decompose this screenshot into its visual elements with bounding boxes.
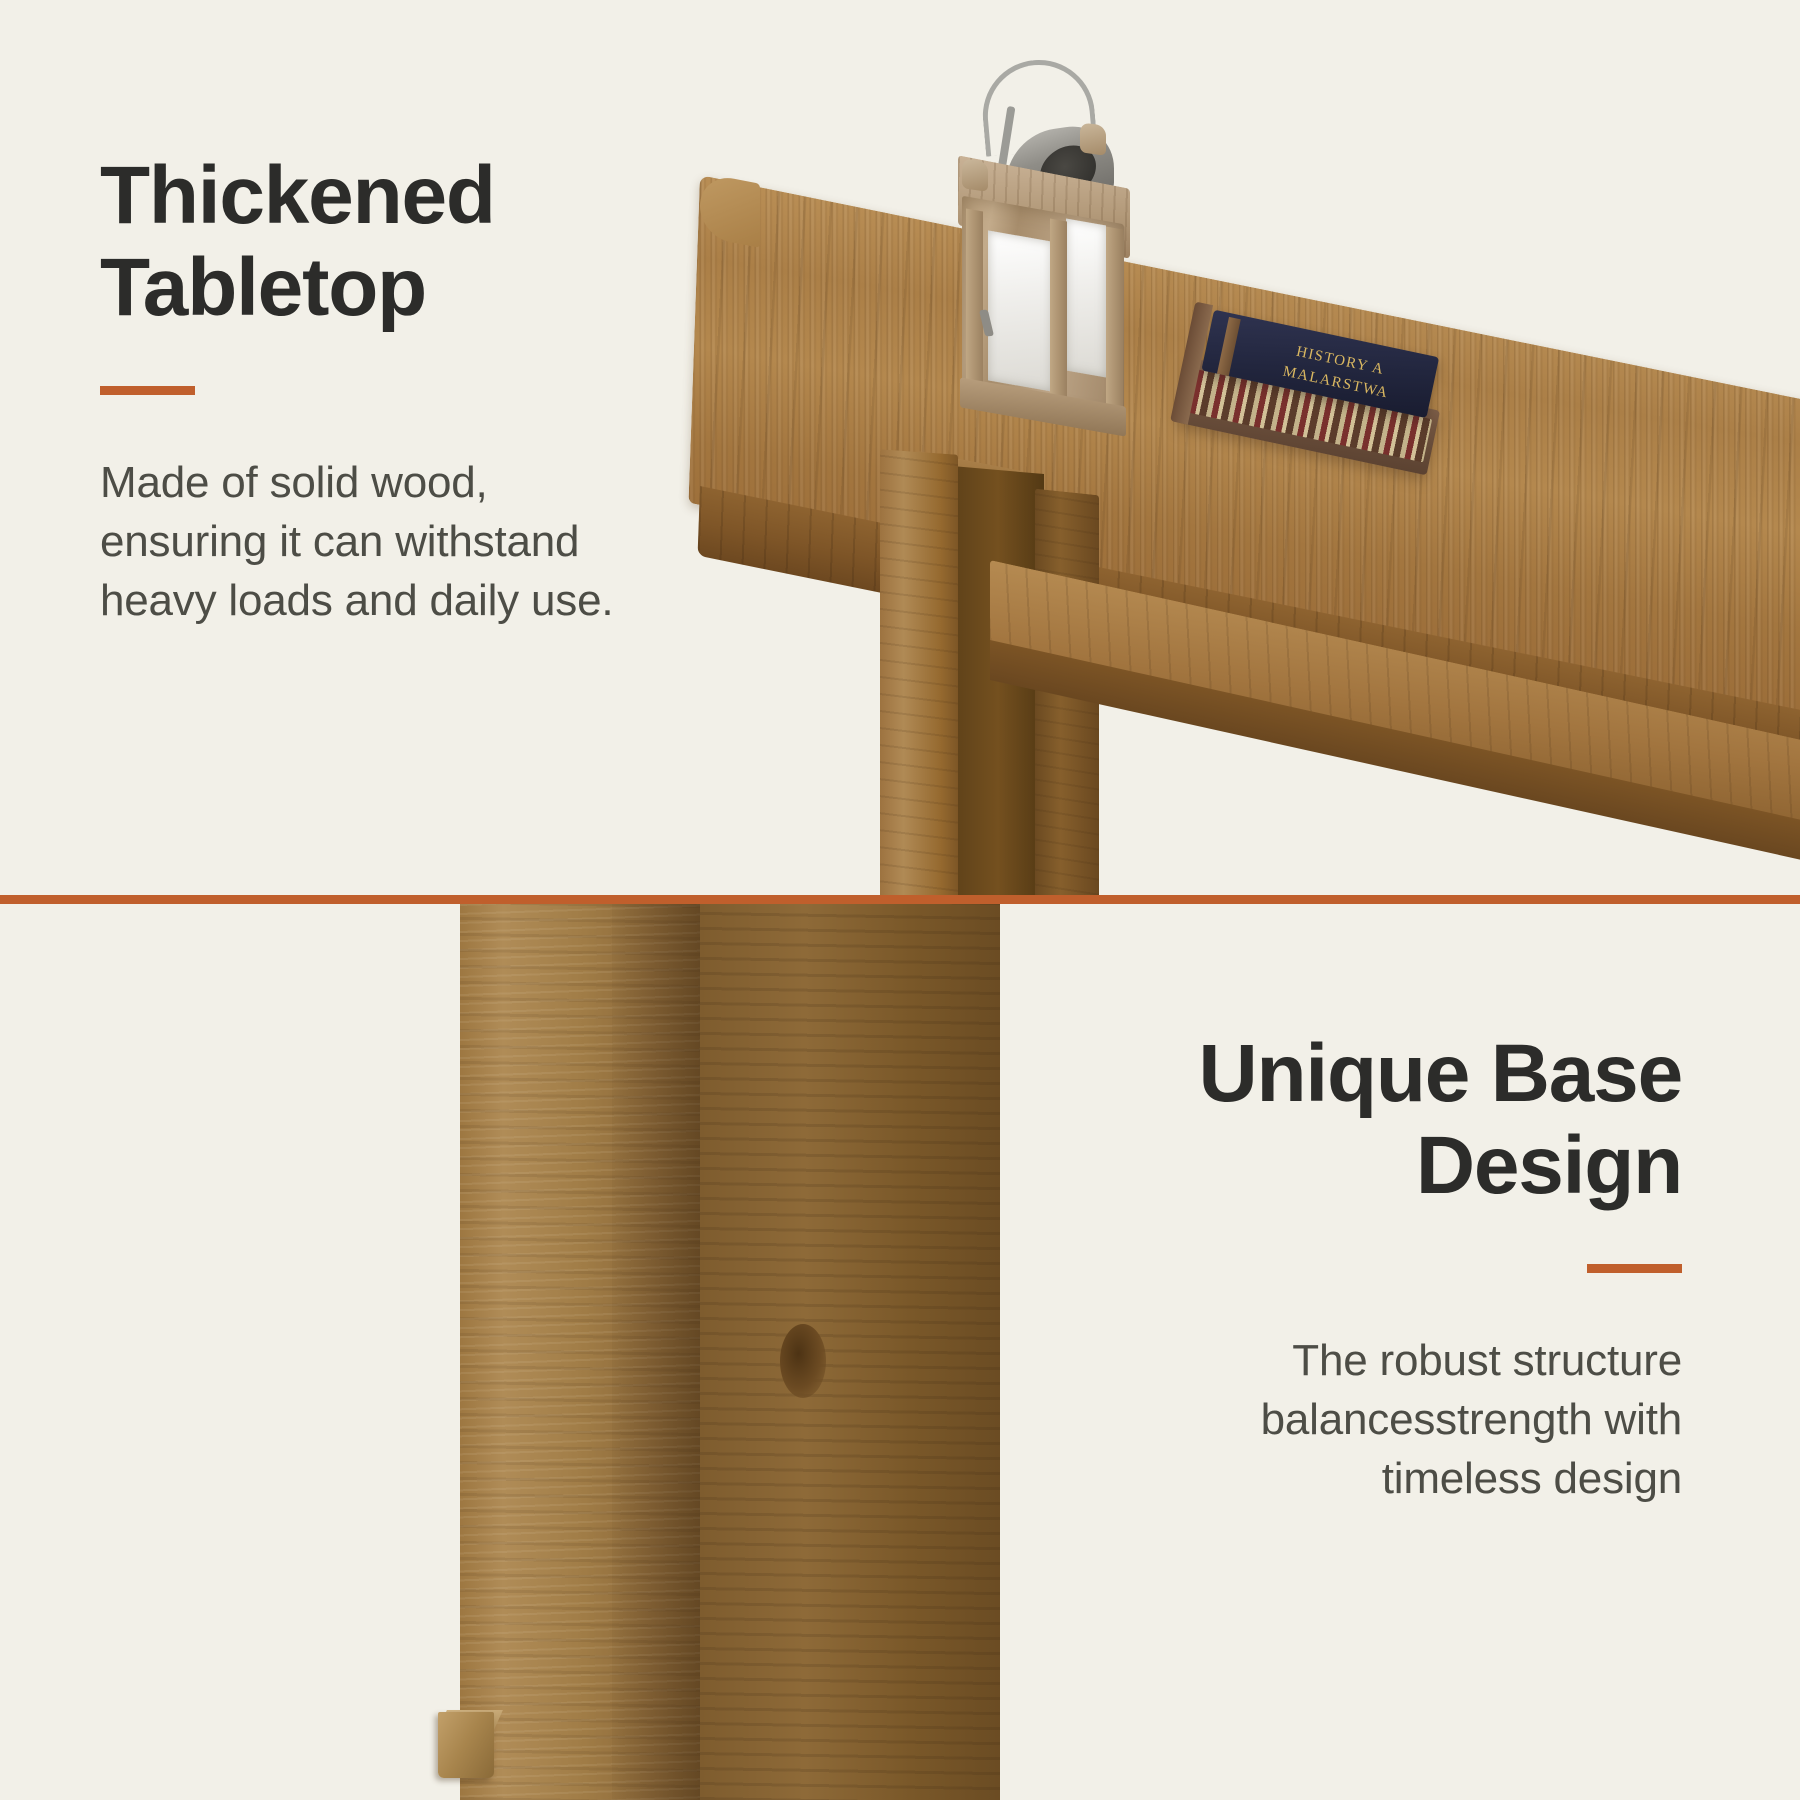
lantern-corner-post: [966, 209, 983, 408]
poster-canvas: HISTORY A MALARSTWA ThickenedTabletop Ma…: [0, 0, 1800, 1800]
accent-rule-top: [100, 386, 195, 395]
feature-description-top: Made of solid wood,ensuring it can withs…: [100, 453, 740, 631]
upper-tenon-peg: [438, 1712, 494, 1778]
feature-description-bottom: The robust structurebalancesstrength wit…: [982, 1331, 1682, 1509]
feature-text-block-bottom: Unique BaseDesign The robust structureba…: [982, 1028, 1682, 1509]
lantern-corner-knob: [962, 158, 988, 192]
accent-rule-bottom: [1587, 1264, 1682, 1273]
table-leg-front: [880, 449, 958, 896]
post-shadow-edge: [612, 904, 700, 1800]
page-title-unique-base-design: Unique BaseDesign: [982, 1028, 1682, 1212]
feature-text-block-top: ThickenedTabletop Made of solid wood,ens…: [100, 150, 740, 631]
lantern-corner-post: [1050, 219, 1067, 418]
decorative-lantern: [940, 60, 1140, 390]
lantern-glass-pane: [1066, 218, 1106, 377]
lantern-corner-post: [1106, 227, 1123, 418]
page-title-thickened-tabletop: ThickenedTabletop: [100, 150, 740, 334]
feature-panel-thickened-tabletop: HISTORY A MALARSTWA ThickenedTabletop Ma…: [0, 0, 1800, 896]
post-dark-face: [700, 904, 1000, 1800]
book-spine: [1217, 317, 1241, 376]
lantern-glass-pane: [988, 230, 1052, 391]
panel-divider-rule: [0, 895, 1800, 904]
wood-knot: [780, 1324, 826, 1398]
lantern-corner-knob: [1080, 122, 1106, 156]
